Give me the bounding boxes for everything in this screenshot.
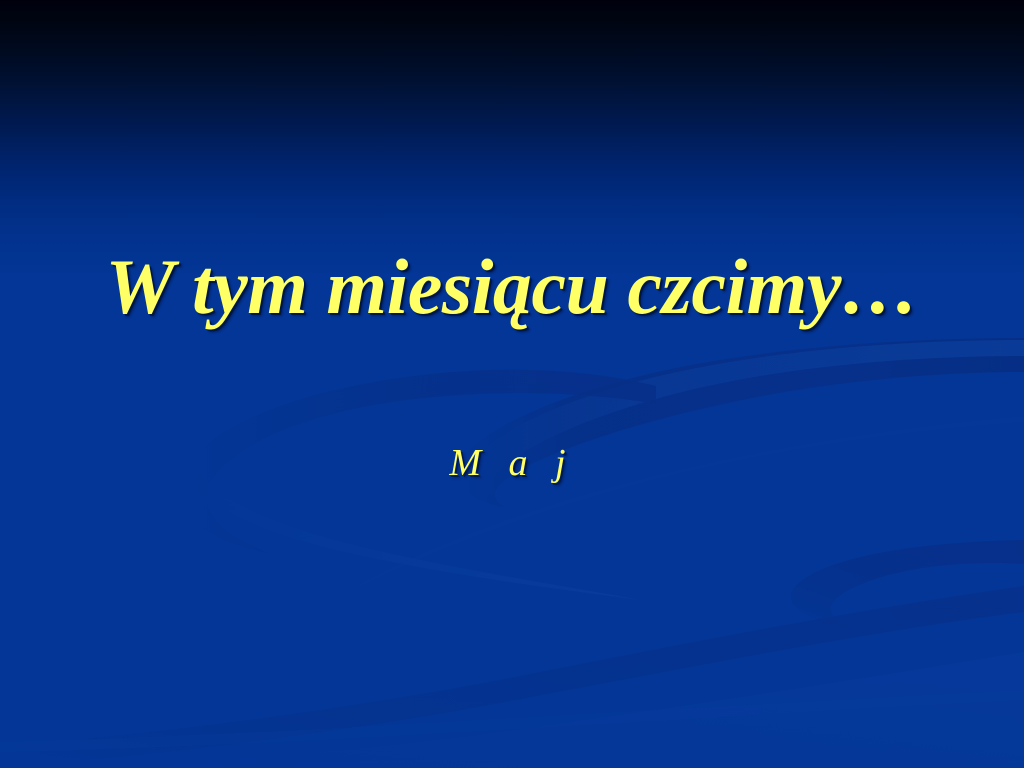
slide-title: W tym miesiącu czcimy… <box>0 246 1024 328</box>
slide-content: W tym miesiącu czcimy… M a j <box>0 0 1024 768</box>
presentation-slide: W tym miesiącu czcimy… M a j <box>0 0 1024 768</box>
slide-subtitle: M a j <box>0 441 1024 485</box>
